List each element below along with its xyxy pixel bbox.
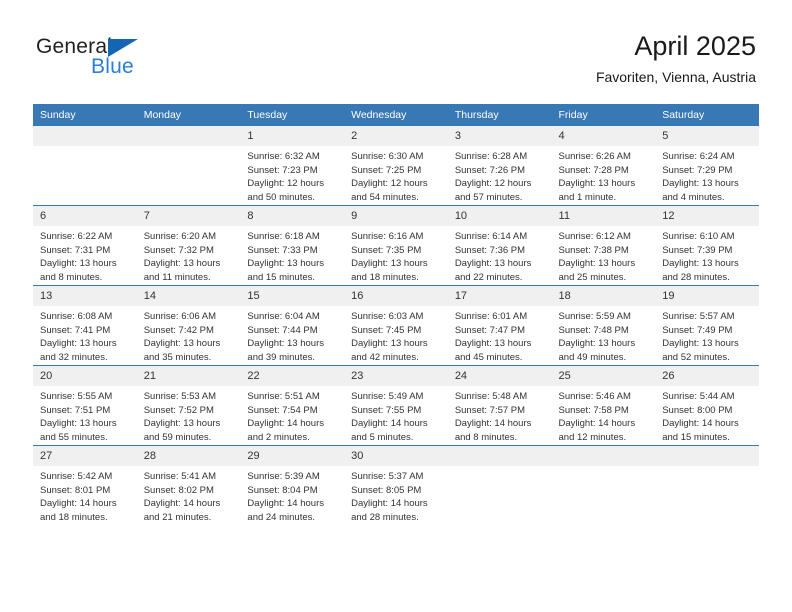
daylight-text-line2: and 24 minutes.: [247, 511, 338, 525]
sunset-text: Sunset: 7:25 PM: [351, 164, 442, 178]
daylight-text-line1: Daylight: 13 hours: [662, 177, 753, 191]
daylight-text-line2: and 42 minutes.: [351, 351, 442, 365]
daylight-text-line2: and 35 minutes.: [144, 351, 235, 365]
sunrise-text: Sunrise: 6:26 AM: [559, 150, 650, 164]
day-number: 25: [552, 366, 656, 386]
daylight-text-line1: Daylight: 13 hours: [144, 257, 235, 271]
sunrise-text: Sunrise: 5:53 AM: [144, 390, 235, 404]
sunset-text: Sunset: 8:01 PM: [40, 484, 131, 498]
day-number: 3: [448, 126, 552, 146]
sunrise-text: Sunrise: 6:08 AM: [40, 310, 131, 324]
calendar-day-cell-empty: [552, 446, 656, 526]
day-number: 23: [344, 366, 448, 386]
calendar-page: General Blue April 2025 Favoriten, Vienn…: [0, 0, 792, 612]
sunset-text: Sunset: 7:45 PM: [351, 324, 442, 338]
daylight-text-line1: Daylight: 13 hours: [662, 337, 753, 351]
sunrise-text: Sunrise: 5:57 AM: [662, 310, 753, 324]
calendar-day-cell[interactable]: 3Sunrise: 6:28 AMSunset: 7:26 PMDaylight…: [448, 126, 552, 206]
sunrise-text: Sunrise: 6:22 AM: [40, 230, 131, 244]
calendar-day-cell[interactable]: 20Sunrise: 5:55 AMSunset: 7:51 PMDayligh…: [33, 366, 137, 446]
day-number: 4: [552, 126, 656, 146]
sunrise-text: Sunrise: 6:10 AM: [662, 230, 753, 244]
sunrise-text: Sunrise: 5:42 AM: [40, 470, 131, 484]
sunset-text: Sunset: 7:49 PM: [662, 324, 753, 338]
sunset-text: Sunset: 8:04 PM: [247, 484, 338, 498]
daylight-text-line1: Daylight: 13 hours: [455, 337, 546, 351]
weekday-header-thursday: Thursday: [448, 104, 552, 126]
calendar-body: 1Sunrise: 6:32 AMSunset: 7:23 PMDaylight…: [33, 126, 759, 525]
sunrise-text: Sunrise: 5:44 AM: [662, 390, 753, 404]
sunrise-text: Sunrise: 6:14 AM: [455, 230, 546, 244]
sunrise-text: Sunrise: 5:49 AM: [351, 390, 442, 404]
calendar-day-cell[interactable]: 28Sunrise: 5:41 AMSunset: 8:02 PMDayligh…: [137, 446, 241, 526]
day-number: 12: [655, 206, 759, 226]
daylight-text-line1: Daylight: 13 hours: [662, 257, 753, 271]
calendar-day-cell-empty: [448, 446, 552, 526]
sunrise-text: Sunrise: 5:41 AM: [144, 470, 235, 484]
daylight-text-line2: and 18 minutes.: [351, 271, 442, 285]
daylight-text-line1: Daylight: 12 hours: [351, 177, 442, 191]
sunset-text: Sunset: 7:32 PM: [144, 244, 235, 258]
sunrise-text: Sunrise: 5:51 AM: [247, 390, 338, 404]
daylight-text-line2: and 18 minutes.: [40, 511, 131, 525]
calendar-day-cell[interactable]: 11Sunrise: 6:12 AMSunset: 7:38 PMDayligh…: [552, 206, 656, 286]
day-details: Sunrise: 6:10 AMSunset: 7:39 PMDaylight:…: [655, 226, 759, 284]
daylight-text-line1: Daylight: 13 hours: [247, 337, 338, 351]
day-details: Sunrise: 5:53 AMSunset: 7:52 PMDaylight:…: [137, 386, 241, 444]
sunrise-text: Sunrise: 6:06 AM: [144, 310, 235, 324]
day-number: 11: [552, 206, 656, 226]
sunset-text: Sunset: 7:48 PM: [559, 324, 650, 338]
day-details: Sunrise: 6:14 AMSunset: 7:36 PMDaylight:…: [448, 226, 552, 284]
daylight-text-line2: and 12 minutes.: [559, 431, 650, 445]
daylight-text-line1: Daylight: 13 hours: [559, 257, 650, 271]
day-details: Sunrise: 6:22 AMSunset: 7:31 PMDaylight:…: [33, 226, 137, 284]
daylight-text-line1: Daylight: 14 hours: [559, 417, 650, 431]
daylight-text-line1: Daylight: 13 hours: [559, 177, 650, 191]
day-number: 28: [137, 446, 241, 466]
daylight-text-line2: and 28 minutes.: [351, 511, 442, 525]
sunset-text: Sunset: 8:00 PM: [662, 404, 753, 418]
calendar-day-cell[interactable]: 17Sunrise: 6:01 AMSunset: 7:47 PMDayligh…: [448, 286, 552, 366]
daylight-text-line1: Daylight: 14 hours: [662, 417, 753, 431]
daylight-text-line1: Daylight: 14 hours: [40, 497, 131, 511]
daylight-text-line1: Daylight: 14 hours: [351, 417, 442, 431]
sunset-text: Sunset: 7:55 PM: [351, 404, 442, 418]
sunrise-text: Sunrise: 6:01 AM: [455, 310, 546, 324]
daylight-text-line1: Daylight: 13 hours: [455, 257, 546, 271]
day-number: 18: [552, 286, 656, 306]
daylight-text-line1: Daylight: 13 hours: [40, 417, 131, 431]
day-details: Sunrise: 5:48 AMSunset: 7:57 PMDaylight:…: [448, 386, 552, 444]
calendar-day-cell-empty: [655, 446, 759, 526]
calendar-day-cell[interactable]: 15Sunrise: 6:04 AMSunset: 7:44 PMDayligh…: [240, 286, 344, 366]
sunset-text: Sunset: 7:33 PM: [247, 244, 338, 258]
calendar-week-row: 1Sunrise: 6:32 AMSunset: 7:23 PMDaylight…: [33, 126, 759, 206]
day-details: Sunrise: 6:24 AMSunset: 7:29 PMDaylight:…: [655, 146, 759, 204]
sunset-text: Sunset: 7:57 PM: [455, 404, 546, 418]
sunrise-text: Sunrise: 6:12 AM: [559, 230, 650, 244]
daylight-text-line2: and 45 minutes.: [455, 351, 546, 365]
day-number: 16: [344, 286, 448, 306]
calendar-day-cell[interactable]: 21Sunrise: 5:53 AMSunset: 7:52 PMDayligh…: [137, 366, 241, 446]
daylight-text-line1: Daylight: 12 hours: [247, 177, 338, 191]
day-details: Sunrise: 6:01 AMSunset: 7:47 PMDaylight:…: [448, 306, 552, 364]
daylight-text-line2: and 8 minutes.: [40, 271, 131, 285]
calendar-day-cell[interactable]: 29Sunrise: 5:39 AMSunset: 8:04 PMDayligh…: [240, 446, 344, 526]
sunset-text: Sunset: 7:47 PM: [455, 324, 546, 338]
calendar-day-cell[interactable]: 30Sunrise: 5:37 AMSunset: 8:05 PMDayligh…: [344, 446, 448, 526]
sunset-text: Sunset: 7:35 PM: [351, 244, 442, 258]
day-details: Sunrise: 5:49 AMSunset: 7:55 PMDaylight:…: [344, 386, 448, 444]
sunset-text: Sunset: 7:39 PM: [662, 244, 753, 258]
day-details: Sunrise: 6:12 AMSunset: 7:38 PMDaylight:…: [552, 226, 656, 284]
day-details: Sunrise: 5:51 AMSunset: 7:54 PMDaylight:…: [240, 386, 344, 444]
day-details: Sunrise: 6:32 AMSunset: 7:23 PMDaylight:…: [240, 146, 344, 204]
weekday-header-saturday: Saturday: [655, 104, 759, 126]
daylight-text-line2: and 2 minutes.: [247, 431, 338, 445]
sunset-text: Sunset: 7:51 PM: [40, 404, 131, 418]
daylight-text-line2: and 55 minutes.: [40, 431, 131, 445]
calendar-day-cell[interactable]: 26Sunrise: 5:44 AMSunset: 8:00 PMDayligh…: [655, 366, 759, 446]
day-number: 27: [33, 446, 137, 466]
calendar-day-cell[interactable]: 19Sunrise: 5:57 AMSunset: 7:49 PMDayligh…: [655, 286, 759, 366]
calendar-header-row: Sunday Monday Tuesday Wednesday Thursday…: [33, 104, 759, 126]
daylight-text-line1: Daylight: 12 hours: [455, 177, 546, 191]
logo-text-blue: Blue: [91, 56, 134, 78]
sunrise-text: Sunrise: 6:04 AM: [247, 310, 338, 324]
day-details: Sunrise: 5:42 AMSunset: 8:01 PMDaylight:…: [33, 466, 137, 524]
weekday-header-friday: Friday: [552, 104, 656, 126]
daylight-text-line2: and 57 minutes.: [455, 191, 546, 205]
day-details: Sunrise: 6:30 AMSunset: 7:25 PMDaylight:…: [344, 146, 448, 204]
day-number: 15: [240, 286, 344, 306]
day-details: Sunrise: 6:06 AMSunset: 7:42 PMDaylight:…: [137, 306, 241, 364]
weekday-header-wednesday: Wednesday: [344, 104, 448, 126]
day-number: [137, 126, 241, 146]
calendar-day-cell[interactable]: 8Sunrise: 6:18 AMSunset: 7:33 PMDaylight…: [240, 206, 344, 286]
calendar-day-cell[interactable]: 4Sunrise: 6:26 AMSunset: 7:28 PMDaylight…: [552, 126, 656, 206]
calendar-day-cell-empty: [137, 126, 241, 206]
sunrise-text: Sunrise: 6:18 AM: [247, 230, 338, 244]
calendar-day-cell[interactable]: 25Sunrise: 5:46 AMSunset: 7:58 PMDayligh…: [552, 366, 656, 446]
day-number: 17: [448, 286, 552, 306]
sunrise-text: Sunrise: 5:55 AM: [40, 390, 131, 404]
daylight-text-line2: and 4 minutes.: [662, 191, 753, 205]
day-details: Sunrise: 5:41 AMSunset: 8:02 PMDaylight:…: [137, 466, 241, 524]
sunrise-text: Sunrise: 5:37 AM: [351, 470, 442, 484]
daylight-text-line1: Daylight: 14 hours: [144, 497, 235, 511]
calendar-day-cell-empty: [33, 126, 137, 206]
location-subtitle: Favoriten, Vienna, Austria: [596, 69, 756, 86]
daylight-text-line2: and 28 minutes.: [662, 271, 753, 285]
daylight-text-line2: and 22 minutes.: [455, 271, 546, 285]
day-number: [552, 446, 656, 466]
calendar-day-cell[interactable]: 27Sunrise: 5:42 AMSunset: 8:01 PMDayligh…: [33, 446, 137, 526]
month-calendar-table: Sunday Monday Tuesday Wednesday Thursday…: [33, 104, 759, 525]
calendar-day-cell[interactable]: 2Sunrise: 6:30 AMSunset: 7:25 PMDaylight…: [344, 126, 448, 206]
sunrise-text: Sunrise: 6:03 AM: [351, 310, 442, 324]
day-details: Sunrise: 6:20 AMSunset: 7:32 PMDaylight:…: [137, 226, 241, 284]
daylight-text-line2: and 32 minutes.: [40, 351, 131, 365]
sunset-text: Sunset: 7:38 PM: [559, 244, 650, 258]
day-number: 22: [240, 366, 344, 386]
daylight-text-line2: and 11 minutes.: [144, 271, 235, 285]
calendar-day-cell[interactable]: 9Sunrise: 6:16 AMSunset: 7:35 PMDaylight…: [344, 206, 448, 286]
calendar-week-row: 6Sunrise: 6:22 AMSunset: 7:31 PMDaylight…: [33, 206, 759, 286]
calendar-day-cell[interactable]: 24Sunrise: 5:48 AMSunset: 7:57 PMDayligh…: [448, 366, 552, 446]
day-details: Sunrise: 5:55 AMSunset: 7:51 PMDaylight:…: [33, 386, 137, 444]
daylight-text-line2: and 49 minutes.: [559, 351, 650, 365]
sunrise-text: Sunrise: 6:24 AM: [662, 150, 753, 164]
daylight-text-line2: and 52 minutes.: [662, 351, 753, 365]
day-number: 7: [137, 206, 241, 226]
calendar-day-cell[interactable]: 13Sunrise: 6:08 AMSunset: 7:41 PMDayligh…: [33, 286, 137, 366]
daylight-text-line1: Daylight: 14 hours: [455, 417, 546, 431]
sunset-text: Sunset: 7:36 PM: [455, 244, 546, 258]
sunset-text: Sunset: 7:28 PM: [559, 164, 650, 178]
sunrise-text: Sunrise: 5:39 AM: [247, 470, 338, 484]
daylight-text-line1: Daylight: 13 hours: [351, 257, 442, 271]
day-details: Sunrise: 5:46 AMSunset: 7:58 PMDaylight:…: [552, 386, 656, 444]
day-number: 10: [448, 206, 552, 226]
calendar-week-row: 27Sunrise: 5:42 AMSunset: 8:01 PMDayligh…: [33, 446, 759, 526]
sunset-text: Sunset: 7:52 PM: [144, 404, 235, 418]
day-details: Sunrise: 5:39 AMSunset: 8:04 PMDaylight:…: [240, 466, 344, 524]
day-number: 19: [655, 286, 759, 306]
daylight-text-line1: Daylight: 13 hours: [144, 337, 235, 351]
calendar-day-cell[interactable]: 7Sunrise: 6:20 AMSunset: 7:32 PMDaylight…: [137, 206, 241, 286]
day-details: Sunrise: 5:37 AMSunset: 8:05 PMDaylight:…: [344, 466, 448, 524]
calendar-day-cell[interactable]: 12Sunrise: 6:10 AMSunset: 7:39 PMDayligh…: [655, 206, 759, 286]
daylight-text-line1: Daylight: 13 hours: [40, 337, 131, 351]
day-details: Sunrise: 6:16 AMSunset: 7:35 PMDaylight:…: [344, 226, 448, 284]
sunrise-text: Sunrise: 6:30 AM: [351, 150, 442, 164]
day-details: Sunrise: 6:28 AMSunset: 7:26 PMDaylight:…: [448, 146, 552, 204]
day-number: 29: [240, 446, 344, 466]
daylight-text-line1: Daylight: 13 hours: [40, 257, 131, 271]
daylight-text-line1: Daylight: 13 hours: [559, 337, 650, 351]
daylight-text-line2: and 21 minutes.: [144, 511, 235, 525]
general-blue-logo[interactable]: General Blue: [36, 36, 166, 84]
day-details: Sunrise: 6:26 AMSunset: 7:28 PMDaylight:…: [552, 146, 656, 204]
day-number: 2: [344, 126, 448, 146]
sunset-text: Sunset: 7:41 PM: [40, 324, 131, 338]
day-details: Sunrise: 5:44 AMSunset: 8:00 PMDaylight:…: [655, 386, 759, 444]
sunset-text: Sunset: 7:58 PM: [559, 404, 650, 418]
day-number: 14: [137, 286, 241, 306]
sunrise-text: Sunrise: 6:32 AM: [247, 150, 338, 164]
day-number: 5: [655, 126, 759, 146]
sunrise-text: Sunrise: 6:20 AM: [144, 230, 235, 244]
day-number: 21: [137, 366, 241, 386]
calendar-week-row: 13Sunrise: 6:08 AMSunset: 7:41 PMDayligh…: [33, 286, 759, 366]
sunrise-text: Sunrise: 5:46 AM: [559, 390, 650, 404]
sunrise-text: Sunrise: 5:59 AM: [559, 310, 650, 324]
day-number: 30: [344, 446, 448, 466]
sunset-text: Sunset: 8:02 PM: [144, 484, 235, 498]
weekday-header-sunday: Sunday: [33, 104, 137, 126]
day-details: Sunrise: 6:18 AMSunset: 7:33 PMDaylight:…: [240, 226, 344, 284]
calendar-day-cell[interactable]: 10Sunrise: 6:14 AMSunset: 7:36 PMDayligh…: [448, 206, 552, 286]
calendar-day-cell[interactable]: 5Sunrise: 6:24 AMSunset: 7:29 PMDaylight…: [655, 126, 759, 206]
day-details: Sunrise: 5:57 AMSunset: 7:49 PMDaylight:…: [655, 306, 759, 364]
weekday-header-tuesday: Tuesday: [240, 104, 344, 126]
weekday-header-monday: Monday: [137, 104, 241, 126]
day-details: Sunrise: 6:04 AMSunset: 7:44 PMDaylight:…: [240, 306, 344, 364]
daylight-text-line2: and 8 minutes.: [455, 431, 546, 445]
sunset-text: Sunset: 7:54 PM: [247, 404, 338, 418]
daylight-text-line1: Daylight: 14 hours: [247, 497, 338, 511]
sunset-text: Sunset: 7:29 PM: [662, 164, 753, 178]
calendar-day-cell[interactable]: 16Sunrise: 6:03 AMSunset: 7:45 PMDayligh…: [344, 286, 448, 366]
day-number: 13: [33, 286, 137, 306]
day-number: [448, 446, 552, 466]
day-details: Sunrise: 6:08 AMSunset: 7:41 PMDaylight:…: [33, 306, 137, 364]
sunset-text: Sunset: 8:05 PM: [351, 484, 442, 498]
sunrise-text: Sunrise: 6:16 AM: [351, 230, 442, 244]
daylight-text-line1: Daylight: 13 hours: [144, 417, 235, 431]
day-details: Sunrise: 5:59 AMSunset: 7:48 PMDaylight:…: [552, 306, 656, 364]
day-number: [33, 126, 137, 146]
daylight-text-line2: and 1 minute.: [559, 191, 650, 205]
daylight-text-line1: Daylight: 13 hours: [247, 257, 338, 271]
page-header: General Blue April 2025 Favoriten, Vienn…: [0, 0, 792, 104]
day-number: 9: [344, 206, 448, 226]
daylight-text-line2: and 25 minutes.: [559, 271, 650, 285]
daylight-text-line2: and 59 minutes.: [144, 431, 235, 445]
daylight-text-line1: Daylight: 13 hours: [351, 337, 442, 351]
sunset-text: Sunset: 7:26 PM: [455, 164, 546, 178]
calendar-day-cell[interactable]: 6Sunrise: 6:22 AMSunset: 7:31 PMDaylight…: [33, 206, 137, 286]
calendar-day-cell[interactable]: 23Sunrise: 5:49 AMSunset: 7:55 PMDayligh…: [344, 366, 448, 446]
day-number: 24: [448, 366, 552, 386]
sunset-text: Sunset: 7:44 PM: [247, 324, 338, 338]
calendar-day-cell[interactable]: 18Sunrise: 5:59 AMSunset: 7:48 PMDayligh…: [552, 286, 656, 366]
day-number: 20: [33, 366, 137, 386]
calendar-day-cell[interactable]: 14Sunrise: 6:06 AMSunset: 7:42 PMDayligh…: [137, 286, 241, 366]
day-details: Sunrise: 6:03 AMSunset: 7:45 PMDaylight:…: [344, 306, 448, 364]
day-number: 6: [33, 206, 137, 226]
day-number: 8: [240, 206, 344, 226]
sunset-text: Sunset: 7:31 PM: [40, 244, 131, 258]
daylight-text-line2: and 54 minutes.: [351, 191, 442, 205]
page-title: April 2025: [596, 30, 756, 62]
sunset-text: Sunset: 7:23 PM: [247, 164, 338, 178]
title-block: April 2025 Favoriten, Vienna, Austria: [596, 30, 756, 86]
daylight-text-line2: and 50 minutes.: [247, 191, 338, 205]
daylight-text-line2: and 15 minutes.: [662, 431, 753, 445]
day-number: 26: [655, 366, 759, 386]
calendar-week-row: 20Sunrise: 5:55 AMSunset: 7:51 PMDayligh…: [33, 366, 759, 446]
daylight-text-line2: and 39 minutes.: [247, 351, 338, 365]
daylight-text-line1: Daylight: 14 hours: [351, 497, 442, 511]
daylight-text-line2: and 5 minutes.: [351, 431, 442, 445]
calendar-day-cell[interactable]: 1Sunrise: 6:32 AMSunset: 7:23 PMDaylight…: [240, 126, 344, 206]
sunset-text: Sunset: 7:42 PM: [144, 324, 235, 338]
day-number: [655, 446, 759, 466]
calendar-day-cell[interactable]: 22Sunrise: 5:51 AMSunset: 7:54 PMDayligh…: [240, 366, 344, 446]
day-number: 1: [240, 126, 344, 146]
daylight-text-line1: Daylight: 14 hours: [247, 417, 338, 431]
sunrise-text: Sunrise: 6:28 AM: [455, 150, 546, 164]
daylight-text-line2: and 15 minutes.: [247, 271, 338, 285]
sunrise-text: Sunrise: 5:48 AM: [455, 390, 546, 404]
